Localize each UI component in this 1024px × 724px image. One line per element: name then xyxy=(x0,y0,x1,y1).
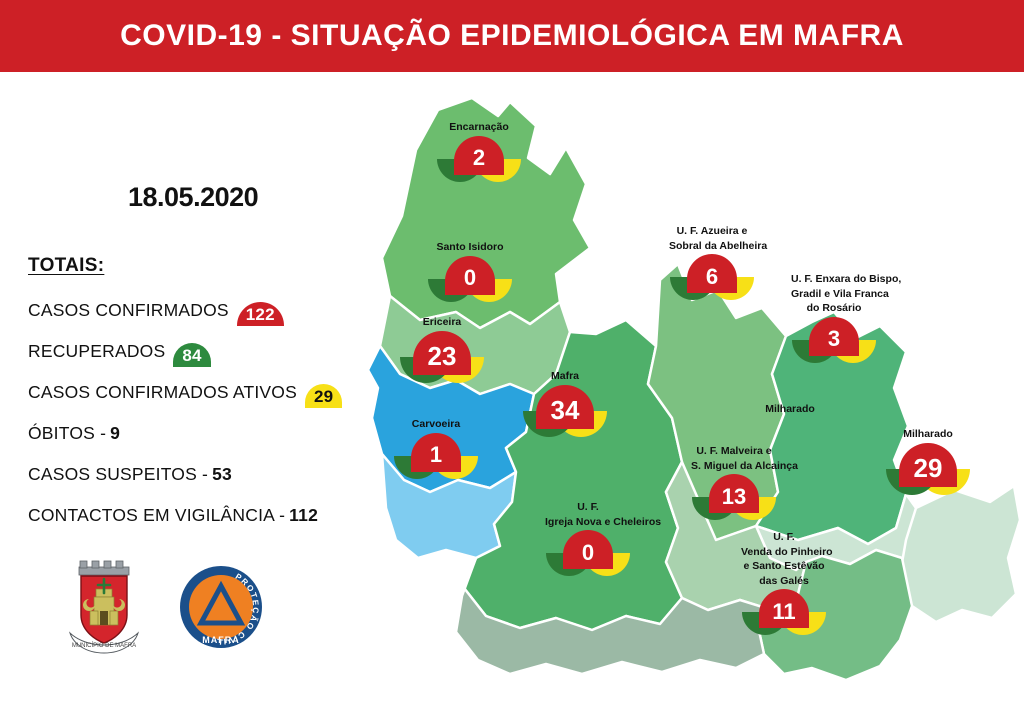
marker-label-line2: S. Miguel da Alcainça xyxy=(691,460,777,473)
total-label: RECUPERADOS xyxy=(28,341,165,362)
total-value: 122 xyxy=(246,304,275,325)
summary-panel: 18.05.2020 TOTAIS: CASOS CONFIRMADOS 122… xyxy=(0,72,372,724)
total-value: 112 xyxy=(289,505,318,526)
marker-label: Mafra xyxy=(522,370,608,383)
logo-group: MUNICÍPIO DE MAFRA PROTEÇÃO CIVIL MAFRA xyxy=(65,559,263,655)
total-row-contactos-em-vigilancia: CONTACTOS EM VIGILÂNCIA - 112 xyxy=(28,495,368,536)
marker-label-line4: das Galés xyxy=(741,575,827,588)
marker-label: U. F. xyxy=(741,531,827,544)
marker-label: Encarnação xyxy=(436,121,522,134)
marker-glyph: 34 21 11 xyxy=(522,385,608,439)
marker-confirmed: 34 xyxy=(536,385,594,429)
mafra-municipality-map: Milharado Encarnação 2 0 2 Santo Isidoro… xyxy=(360,88,1024,688)
marker-label-line2: Gradil e Vila Franca xyxy=(791,288,877,301)
marker-glyph: 3 1 2 xyxy=(791,317,877,365)
marker-label-line2: Venda do Pinheiro xyxy=(741,546,827,559)
total-label: CASOS CONFIRMADOS xyxy=(28,300,229,321)
marker-glyph: 11 9 1 xyxy=(741,589,827,637)
marker-confirmed: 2 xyxy=(454,136,504,175)
total-badge-recovered: 84 xyxy=(173,343,210,367)
marker-label: Santo Isidoro xyxy=(427,241,513,254)
marker-label: U. F. Malveira e xyxy=(691,445,777,458)
marker-confirmed: 3 xyxy=(809,317,859,356)
marker-glyph: 2 0 2 xyxy=(436,136,522,184)
region-milharado-east xyxy=(900,486,1020,622)
marker-label: Carvoeira xyxy=(393,418,479,431)
marker-label-line2: Igreja Nova e Cheleiros xyxy=(545,516,631,529)
marker-label: Milharado xyxy=(885,428,971,441)
marker-confirmed: 0 xyxy=(445,256,495,295)
total-value: 29 xyxy=(314,386,333,407)
total-value: 9 xyxy=(110,423,120,444)
total-row-obitos: ÓBITOS - 9 xyxy=(28,413,368,454)
marker-label-line3: e Santo Estêvão xyxy=(741,560,827,573)
marker-glyph: 0 0 0 xyxy=(427,256,513,304)
marker-label: U. F. xyxy=(545,501,631,514)
marker-malveira-s-miguel-da-alcainca[interactable]: U. F. Malveira e S. Miguel da Alcainça 1… xyxy=(691,445,777,522)
totals-heading: TOTAIS: xyxy=(28,255,104,277)
header-bar: COVID-19 - SITUAÇÃO EPIDEMIOLÓGICA EM MA… xyxy=(0,0,1024,72)
marker-confirmed: 11 xyxy=(759,589,809,628)
total-row-casos-suspeitos: CASOS SUSPEITOS - 53 xyxy=(28,454,368,495)
map-label-milharado-west: Milharado xyxy=(765,403,815,415)
marker-glyph: 0 0 0 xyxy=(545,530,631,578)
total-row-casos-confirmados: CASOS CONFIRMADOS 122 xyxy=(28,290,368,331)
total-row-recuperados: RECUPERADOS 84 xyxy=(28,331,368,372)
svg-text:MAFRA: MAFRA xyxy=(202,635,240,645)
marker-azueira-sobral-da-abelheira[interactable]: U. F. Azueira e Sobral da Abelheira 6 4 … xyxy=(669,225,755,302)
marker-mafra[interactable]: Mafra 34 21 11 xyxy=(522,370,608,439)
total-value: 53 xyxy=(212,464,232,485)
total-label: ÓBITOS - xyxy=(28,423,106,444)
total-label: CASOS SUSPEITOS - xyxy=(28,464,208,485)
marker-label: Ericeira xyxy=(399,316,485,329)
municipio-de-mafra-crest-icon: MUNICÍPIO DE MAFRA xyxy=(65,559,143,655)
marker-confirmed: 13 xyxy=(709,474,759,513)
marker-ericeira[interactable]: Ericeira 23 18 4 xyxy=(399,316,485,385)
marker-glyph: 1 1 0 xyxy=(393,433,479,481)
marker-glyph: 23 18 4 xyxy=(399,331,485,385)
total-label: CASOS CONFIRMADOS ATIVOS xyxy=(28,382,297,403)
marker-confirmed: 6 xyxy=(687,254,737,293)
marker-venda-do-pinheiro-santo-estevao-das-gales[interactable]: U. F. Venda do Pinheiro e Santo Estêvão … xyxy=(741,531,827,637)
marker-label: U. F. Azueira e xyxy=(669,225,755,238)
marker-encarnacao[interactable]: Encarnação 2 0 2 xyxy=(436,121,522,184)
svg-text:MUNICÍPIO DE MAFRA: MUNICÍPIO DE MAFRA xyxy=(72,642,136,649)
marker-milharado[interactable]: Milharado 29 21 3 xyxy=(885,428,971,497)
report-date: 18.05.2020 xyxy=(128,182,258,213)
marker-confirmed: 29 xyxy=(899,443,957,487)
marker-label-line3: do Rosário xyxy=(791,302,877,315)
totals-list: CASOS CONFIRMADOS 122 RECUPERADOS 84 CAS… xyxy=(28,290,368,536)
marker-glyph: 29 21 3 xyxy=(885,443,971,497)
marker-label: U. F. Enxara do Bispo, xyxy=(791,273,877,286)
total-row-casos-confirmados-ativos: CASOS CONFIRMADOS ATIVOS 29 xyxy=(28,372,368,413)
total-badge-confirmed: 122 xyxy=(237,302,284,326)
marker-confirmed: 1 xyxy=(411,433,461,472)
protecao-civil-mafra-logo-icon: PROTEÇÃO CIVIL MAFRA xyxy=(179,565,263,649)
page-title: COVID-19 - SITUAÇÃO EPIDEMIOLÓGICA EM MA… xyxy=(120,19,904,53)
marker-confirmed: 23 xyxy=(413,331,471,375)
marker-confirmed: 0 xyxy=(563,530,613,569)
total-value: 84 xyxy=(182,345,201,366)
marker-label-line2: Sobral da Abelheira xyxy=(669,240,755,253)
marker-glyph: 6 4 2 xyxy=(669,254,755,302)
marker-glyph: 13 9 4 xyxy=(691,474,777,522)
marker-igreja-nova-e-cheleiros[interactable]: U. F. Igreja Nova e Cheleiros 0 0 0 xyxy=(545,501,631,578)
marker-santo-isidoro[interactable]: Santo Isidoro 0 0 0 xyxy=(427,241,513,304)
total-label: CONTACTOS EM VIGILÂNCIA - xyxy=(28,505,285,526)
marker-enxara-do-bispo-gradil-vila-franca[interactable]: U. F. Enxara do Bispo, Gradil e Vila Fra… xyxy=(791,273,877,365)
total-badge-active: 29 xyxy=(305,384,342,408)
marker-carvoeira[interactable]: Carvoeira 1 1 0 xyxy=(393,418,479,481)
